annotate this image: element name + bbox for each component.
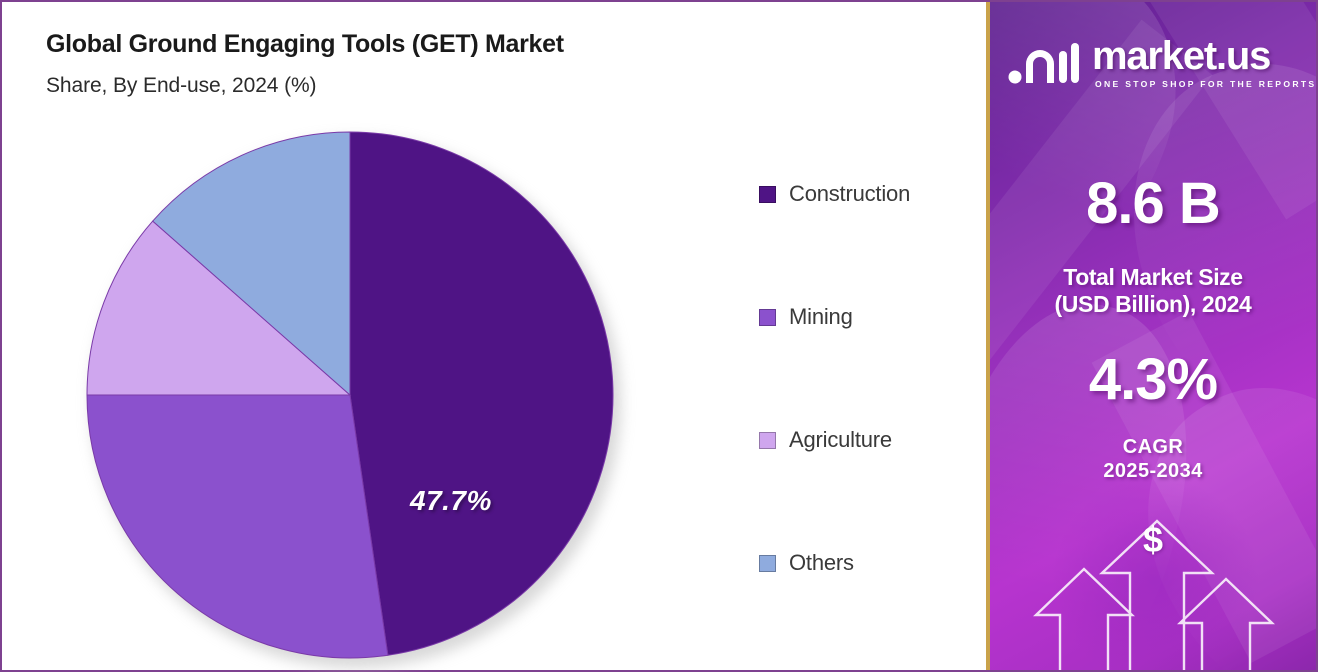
legend-swatch-agriculture <box>759 432 776 449</box>
brand-logo[interactable]: market.us ONE STOP SHOP FOR THE REPORTS <box>1006 32 1302 94</box>
logo-name: market.us <box>1092 37 1316 75</box>
legend-item-mining[interactable]: Mining <box>759 299 984 335</box>
market-size-label-line2: (USD Billion), 2024 <box>990 291 1316 318</box>
pie-slice-construction[interactable] <box>350 132 613 655</box>
market-size-value: 8.6 B <box>990 170 1316 237</box>
legend-swatch-mining <box>759 309 776 326</box>
logo-text-block: market.us ONE STOP SHOP FOR THE REPORTS <box>1092 37 1316 89</box>
chart-panel: Global Ground Engaging Tools (GET) Marke… <box>2 2 988 670</box>
cagr-label-line2: 2025-2034 <box>990 459 1316 483</box>
legend-item-others[interactable]: Others <box>759 545 984 581</box>
legend: Construction Mining Agriculture Others <box>759 176 984 581</box>
cagr-label: CAGR 2025-2034 <box>990 435 1316 483</box>
page-subtitle: Share, By End-use, 2024 (%) <box>46 74 316 98</box>
logo-tagline: ONE STOP SHOP FOR THE REPORTS <box>1095 79 1316 89</box>
pie-chart: 47.7% <box>85 130 615 660</box>
legend-swatch-others <box>759 555 776 572</box>
legend-label-agriculture: Agriculture <box>789 427 892 453</box>
pie-slices <box>85 130 615 660</box>
legend-swatch-construction <box>759 186 776 203</box>
market-size-label-line1: Total Market Size <box>990 264 1316 291</box>
infographic-root: Global Ground Engaging Tools (GET) Marke… <box>0 0 1318 672</box>
cagr-label-line1: CAGR <box>990 435 1316 459</box>
legend-label-mining: Mining <box>789 304 853 330</box>
legend-item-construction[interactable]: Construction <box>759 176 984 212</box>
stats-sidebar: market.us ONE STOP SHOP FOR THE REPORTS … <box>990 2 1316 670</box>
page-title: Global Ground Engaging Tools (GET) Marke… <box>46 30 564 59</box>
market-size-label: Total Market Size (USD Billion), 2024 <box>990 264 1316 318</box>
cagr-value: 4.3% <box>990 346 1316 413</box>
legend-label-others: Others <box>789 550 854 576</box>
pie-slice-label-construction: 47.7% <box>410 485 492 517</box>
legend-item-agriculture[interactable]: Agriculture <box>759 422 984 458</box>
pie-slice-mining[interactable] <box>87 395 388 658</box>
growth-arrows-icon <box>990 497 1316 670</box>
market-us-logo-icon <box>1006 37 1082 89</box>
legend-label-construction: Construction <box>789 181 910 207</box>
